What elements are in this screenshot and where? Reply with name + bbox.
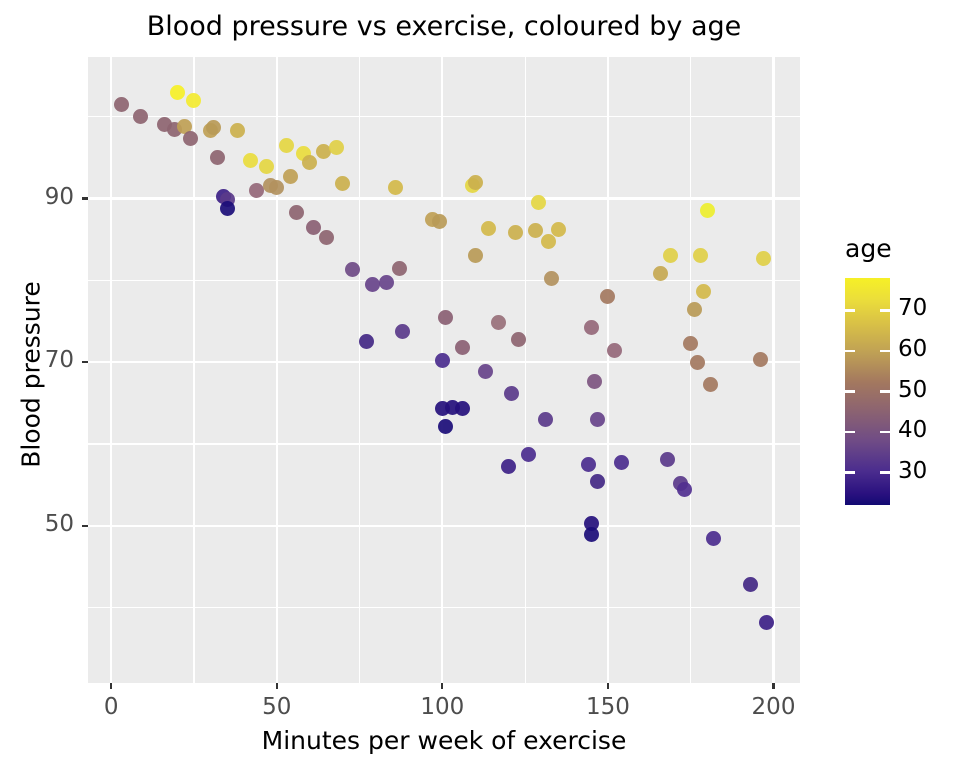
data-point xyxy=(329,140,344,155)
data-point xyxy=(289,205,304,220)
x-tick-mark xyxy=(772,683,774,689)
gridline-major-vertical xyxy=(441,57,443,683)
data-point xyxy=(183,131,198,146)
gridline-major-vertical xyxy=(110,57,112,683)
x-tick-label: 200 xyxy=(729,694,819,720)
x-tick-label: 0 xyxy=(66,694,156,720)
data-point xyxy=(478,364,493,379)
data-point xyxy=(521,447,536,462)
data-point xyxy=(693,248,708,263)
data-point xyxy=(206,120,221,135)
data-point xyxy=(687,302,702,317)
legend-tick-mark xyxy=(845,309,855,311)
data-point xyxy=(359,334,374,349)
data-point xyxy=(700,203,715,218)
data-point xyxy=(703,377,718,392)
scatter-plot-figure: Blood pressure vs exercise, coloured by … xyxy=(0,0,960,768)
data-point xyxy=(395,324,410,339)
data-point xyxy=(677,482,692,497)
data-point xyxy=(696,284,711,299)
data-point xyxy=(319,230,334,245)
data-point xyxy=(455,401,470,416)
data-point xyxy=(528,223,543,238)
plot-panel xyxy=(88,57,800,683)
legend-tick-label: 70 xyxy=(898,295,927,321)
gridline-minor-vertical xyxy=(359,57,360,683)
data-point xyxy=(508,225,523,240)
data-point xyxy=(468,248,483,263)
data-point xyxy=(455,340,470,355)
x-tick-mark xyxy=(441,683,443,689)
data-point xyxy=(306,220,321,235)
legend-tick-mark xyxy=(880,309,890,311)
data-point xyxy=(663,248,678,263)
data-point xyxy=(335,176,350,191)
y-tick-mark xyxy=(82,361,88,363)
gridline-major-vertical xyxy=(607,57,609,683)
data-point xyxy=(302,155,317,170)
data-point xyxy=(504,386,519,401)
gridline-minor-horizontal xyxy=(88,607,800,608)
data-point xyxy=(541,234,556,249)
x-tick-mark xyxy=(110,683,112,689)
chart-title: Blood pressure vs exercise, coloured by … xyxy=(88,10,800,44)
data-point xyxy=(584,320,599,335)
data-point xyxy=(365,277,380,292)
gridline-minor-horizontal xyxy=(88,280,800,281)
data-point xyxy=(259,159,274,174)
legend-tick-mark xyxy=(880,471,890,473)
data-point xyxy=(756,251,771,266)
x-tick-label: 50 xyxy=(232,694,322,720)
data-point xyxy=(438,310,453,325)
gridline-minor-vertical xyxy=(193,57,194,683)
legend-tick-mark xyxy=(880,390,890,392)
data-point xyxy=(544,271,559,286)
data-point xyxy=(590,474,605,489)
gridline-major-horizontal xyxy=(88,197,800,199)
x-tick-label: 100 xyxy=(397,694,487,720)
data-point xyxy=(230,123,245,138)
gridline-minor-vertical xyxy=(690,57,691,683)
data-point xyxy=(511,332,526,347)
x-axis-title: Minutes per week of exercise xyxy=(88,726,800,755)
legend-tick-label: 30 xyxy=(898,458,927,484)
legend-tick-mark xyxy=(880,350,890,352)
data-point xyxy=(438,419,453,434)
data-point xyxy=(186,93,201,108)
legend-tick-label: 60 xyxy=(898,336,927,362)
legend-age: age 3040506070 xyxy=(838,234,960,534)
data-point xyxy=(660,452,675,467)
data-point xyxy=(743,577,758,592)
data-point xyxy=(220,201,235,216)
x-tick-mark xyxy=(607,683,609,689)
data-point xyxy=(683,336,698,351)
gridline-major-vertical xyxy=(276,57,278,683)
data-point xyxy=(753,352,768,367)
data-point xyxy=(587,374,602,389)
data-point xyxy=(468,175,483,190)
gridline-major-horizontal xyxy=(88,525,800,527)
legend-tick-mark xyxy=(880,431,890,433)
data-point xyxy=(392,261,407,276)
data-point xyxy=(607,343,622,358)
data-point xyxy=(481,221,496,236)
gridline-minor-horizontal xyxy=(88,116,800,117)
data-point xyxy=(114,97,129,112)
data-point xyxy=(243,153,258,168)
y-tick-mark xyxy=(82,525,88,527)
x-tick-label: 150 xyxy=(563,694,653,720)
data-point xyxy=(133,109,148,124)
data-point xyxy=(279,138,294,153)
data-point xyxy=(584,527,599,542)
data-point xyxy=(491,315,506,330)
data-point xyxy=(690,355,705,370)
gridline-minor-horizontal xyxy=(88,443,800,444)
gridline-major-vertical xyxy=(772,57,774,683)
data-point xyxy=(210,150,225,165)
data-point xyxy=(538,412,553,427)
legend-tick-mark xyxy=(845,431,855,433)
data-point xyxy=(170,85,185,100)
data-point xyxy=(551,222,566,237)
data-point xyxy=(531,195,546,210)
data-point xyxy=(379,275,394,290)
data-point xyxy=(706,531,721,546)
data-point xyxy=(435,353,450,368)
y-axis-title: Blood pressure xyxy=(17,215,46,535)
data-point xyxy=(283,169,298,184)
y-tick-mark xyxy=(82,197,88,199)
data-point xyxy=(432,214,447,229)
legend-tick-mark xyxy=(845,471,855,473)
data-point xyxy=(501,459,516,474)
legend-tick-label: 40 xyxy=(898,417,927,443)
legend-title: age xyxy=(845,234,892,263)
data-point xyxy=(269,180,284,195)
legend-tick-label: 50 xyxy=(898,377,927,403)
data-point xyxy=(581,457,596,472)
data-point xyxy=(614,455,629,470)
y-tick-label: 90 xyxy=(0,184,74,210)
legend-tick-mark xyxy=(845,390,855,392)
data-point xyxy=(590,412,605,427)
x-tick-mark xyxy=(276,683,278,689)
gridline-minor-vertical xyxy=(525,57,526,683)
data-point xyxy=(388,180,403,195)
legend-tick-mark xyxy=(845,350,855,352)
data-point xyxy=(600,289,615,304)
